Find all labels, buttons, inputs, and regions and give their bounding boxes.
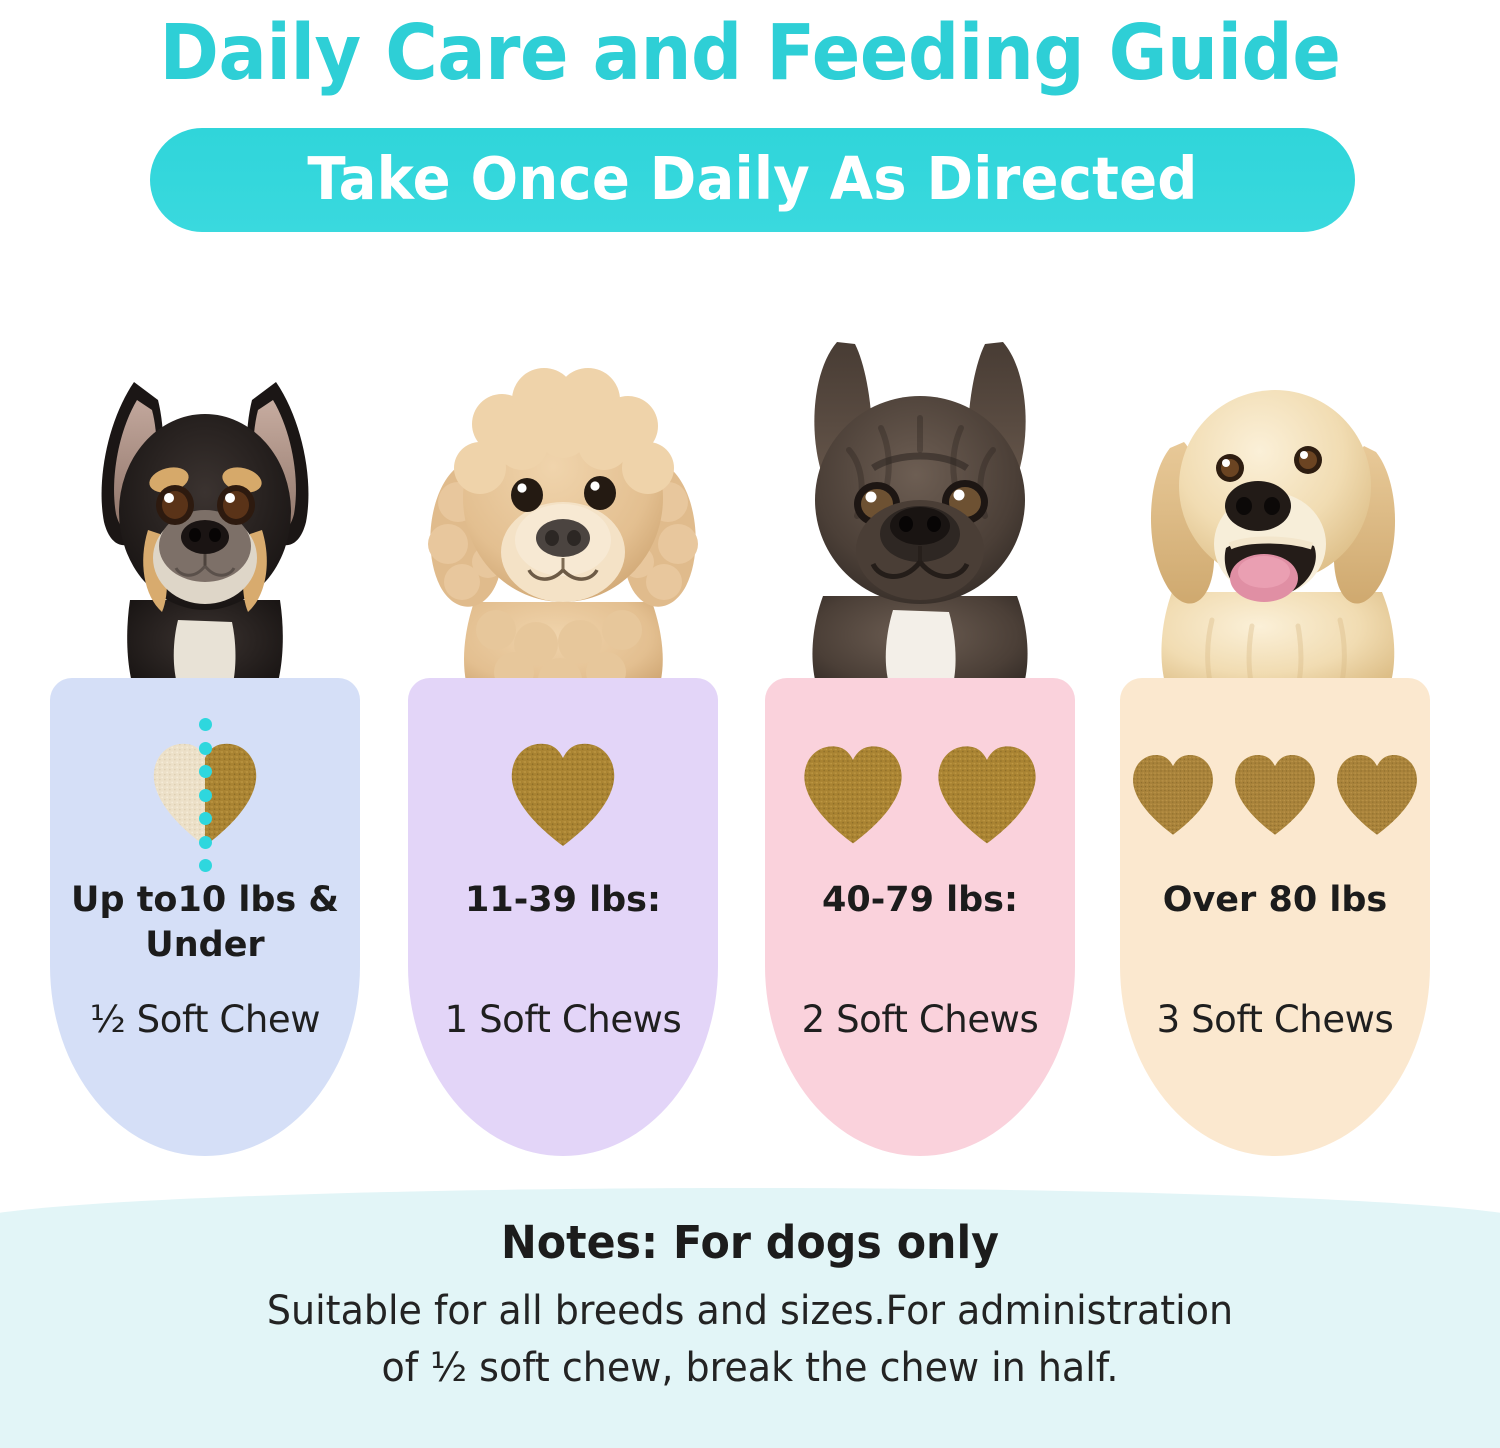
weight-label: Up to10 lbs & Under: [58, 878, 352, 968]
dose-label: ½ Soft Chew: [52, 998, 358, 1042]
dog-photo-golden-retriever: [1108, 300, 1442, 700]
notes-body-line-2: of ½ soft chew, break the chew in half.: [382, 1345, 1119, 1391]
chew-icons-half: [50, 730, 360, 860]
dosage-card-toy-poodle: 11-39 lbs: 1 Soft Chews: [408, 300, 718, 1180]
chew-icon: [931, 739, 1043, 851]
cut-dot: [199, 836, 212, 849]
cut-dot: [199, 742, 212, 755]
chew-icon: [1127, 749, 1219, 841]
weight-label: 11-39 lbs:: [416, 878, 710, 923]
cut-line-dots: [199, 718, 212, 872]
chew-icon: [797, 739, 909, 851]
notes-band: Notes: For dogs only Suitable for all br…: [0, 1188, 1500, 1448]
notes-body: Suitable for all breeds and sizes.For ad…: [152, 1283, 1349, 1397]
chew-icon: [1331, 749, 1423, 841]
dosage-panel-toy-poodle: 11-39 lbs: 1 Soft Chews: [408, 678, 718, 1156]
dose-label: 1 Soft Chews: [410, 998, 716, 1042]
subtitle-banner-label: Take Once Daily As Directed: [307, 144, 1197, 213]
dosage-card-french-bulldog: 40-79 lbs: 2 Soft Chews: [765, 300, 1075, 1180]
page-title: Daily Care and Feeding Guide: [53, 0, 1448, 106]
dose-label: 2 Soft Chews: [767, 998, 1073, 1042]
notes-body-line-1: Suitable for all breeds and sizes.For ad…: [267, 1288, 1233, 1334]
chew-icons-1: [408, 730, 718, 860]
chew-icon: [504, 736, 622, 854]
chew-icon: [1229, 749, 1321, 841]
cut-dot: [199, 859, 212, 872]
dosage-panel-chihuahua: Up to10 lbs & Under ½ Soft Chew: [50, 678, 360, 1156]
dog-photo-toy-poodle: [396, 300, 730, 700]
cut-dot: [199, 765, 212, 778]
chew-icon-half: [146, 736, 264, 854]
notes-content: Notes: For dogs only Suitable for all br…: [0, 1188, 1500, 1448]
subtitle-banner: Take Once Daily As Directed: [150, 128, 1355, 232]
dog-photo-french-bulldog: [753, 300, 1087, 700]
dosage-panel-french-bulldog: 40-79 lbs: 2 Soft Chews: [765, 678, 1075, 1156]
notes-heading: Notes: For dogs only: [38, 1216, 1463, 1269]
dosage-card-golden-retriever: Over 80 lbs 3 Soft Chews: [1120, 300, 1430, 1180]
dosage-cards-row: Up to10 lbs & Under ½ Soft Chew: [0, 300, 1500, 1180]
weight-label: 40-79 lbs:: [773, 878, 1067, 923]
chew-icons-3: [1120, 730, 1430, 860]
dosage-panel-golden-retriever: Over 80 lbs 3 Soft Chews: [1120, 678, 1430, 1156]
cut-dot: [199, 718, 212, 731]
weight-label: Over 80 lbs: [1128, 878, 1422, 923]
cut-dot: [199, 789, 212, 802]
dose-label: 3 Soft Chews: [1122, 998, 1428, 1042]
cut-dot: [199, 812, 212, 825]
chew-icons-2: [765, 730, 1075, 860]
dosage-card-chihuahua: Up to10 lbs & Under ½ Soft Chew: [50, 300, 360, 1180]
dog-photo-chihuahua: [38, 300, 372, 700]
